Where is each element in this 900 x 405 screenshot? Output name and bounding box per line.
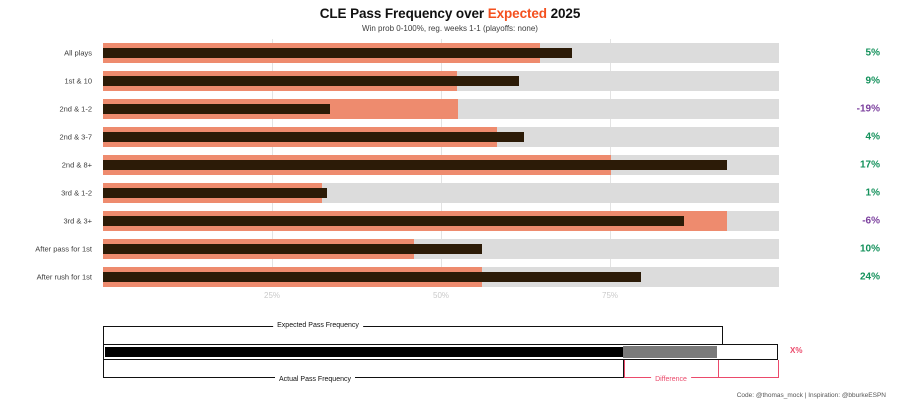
difference-bracket: Difference <box>624 360 779 378</box>
chart-row: After rush for 1st24% <box>0 263 900 291</box>
chart-row: 3rd & 1-21% <box>0 179 900 207</box>
x-axis-tick-label: 25% <box>264 291 280 300</box>
actual-bar <box>103 48 572 58</box>
page-title: CLE Pass Frequency over Expected 2025 <box>0 6 900 22</box>
legend-diagram: Expected Pass Frequency X% Actual Pass F… <box>0 318 900 384</box>
actual-bar <box>103 188 327 198</box>
actual-bar <box>103 216 684 226</box>
difference-value-label: -6% <box>810 216 880 227</box>
chart-row: 2nd & 3-74% <box>0 123 900 151</box>
category-label: 2nd & 8+ <box>0 161 92 170</box>
chart-row: After pass for 1st10% <box>0 235 900 263</box>
actual-bar <box>103 244 482 254</box>
chart-row: All plays5% <box>0 39 900 67</box>
chart-row: 1st & 109% <box>0 67 900 95</box>
expected-bracket: Expected Pass Frequency <box>103 326 723 344</box>
title-block: CLE Pass Frequency over Expected 2025 Wi… <box>0 0 900 34</box>
title-part-main: CLE Pass Frequency <box>320 6 453 21</box>
title-part-year: 2025 <box>551 6 581 21</box>
actual-bracket-label: Actual Pass Frequency <box>275 376 355 383</box>
difference-value-label: 24% <box>810 272 880 283</box>
expected-bracket-label: Expected Pass Frequency <box>273 322 363 329</box>
category-label: 3rd & 3+ <box>0 217 92 226</box>
category-label: All plays <box>0 49 92 58</box>
actual-bracket: Actual Pass Frequency <box>103 360 624 378</box>
category-label: 2nd & 3-7 <box>0 133 92 142</box>
legend-difference-value: X% <box>790 346 802 355</box>
difference-value-label: 1% <box>810 188 880 199</box>
actual-bar <box>103 160 727 170</box>
category-label: 3rd & 1-2 <box>0 189 92 198</box>
chart-row: 2nd & 1-2-19% <box>0 95 900 123</box>
title-part-expected: Expected <box>488 6 547 21</box>
actual-bar <box>103 104 330 114</box>
legend-bar-actual <box>105 347 623 357</box>
footer-credit: Code: @thomas_mock | Inspiration: @bburk… <box>737 392 886 399</box>
category-label: After pass for 1st <box>0 245 92 254</box>
difference-value-label: 4% <box>810 132 880 143</box>
chart-plot-area: 25%50%75% All plays5%1st & 109%2nd & 1-2… <box>0 39 900 304</box>
difference-value-label: -19% <box>810 104 880 115</box>
actual-bar <box>103 76 519 86</box>
difference-value-label: 17% <box>810 160 880 171</box>
difference-value-label: 9% <box>810 76 880 87</box>
category-label: After rush for 1st <box>0 273 92 282</box>
legend-bar-difference <box>623 346 717 358</box>
title-part-over: over <box>456 6 484 21</box>
actual-bar <box>103 132 524 142</box>
category-label: 2nd & 1-2 <box>0 105 92 114</box>
category-label: 1st & 10 <box>0 77 92 86</box>
actual-bar <box>103 272 641 282</box>
chart-subtitle: Win prob 0-100%, reg. weeks 1-1 (playoff… <box>0 24 900 34</box>
x-axis-tick-label: 50% <box>433 291 449 300</box>
x-axis-tick-label: 75% <box>602 291 618 300</box>
difference-bracket-label: Difference <box>651 376 691 383</box>
chart-row: 2nd & 8+17% <box>0 151 900 179</box>
difference-value-label: 5% <box>810 48 880 59</box>
difference-value-label: 10% <box>810 244 880 255</box>
chart-row: 3rd & 3+-6% <box>0 207 900 235</box>
